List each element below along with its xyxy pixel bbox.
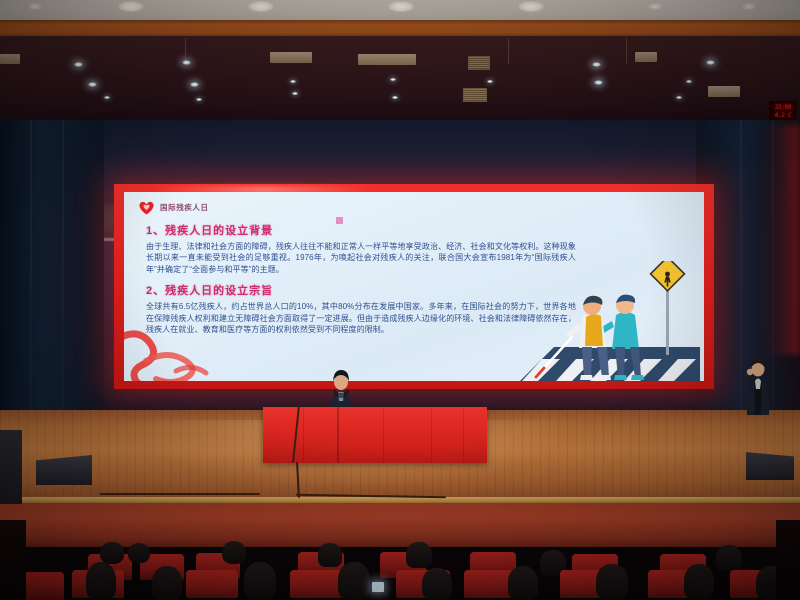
stage-spotlight <box>390 78 396 81</box>
audience-head <box>318 543 342 567</box>
curtain-fold <box>62 120 64 420</box>
audience-head <box>508 566 538 600</box>
stage-spotlight <box>487 80 493 83</box>
ceiling-light <box>388 1 414 12</box>
led-screen[interactable]: 国际残疾人日 1、残疾人日的设立背景 由于生理、法律和社会方面的障碍，残疾人往往… <box>114 184 714 389</box>
stage-spotlight <box>706 60 715 65</box>
ceiling-vent <box>463 88 487 102</box>
seat <box>290 570 344 598</box>
ceiling-truss <box>626 38 627 64</box>
section-1-paragraph: 由于生理、法律和社会方面的障碍，残疾人往往不能和正常人一样平等地享受政治、经济、… <box>146 241 576 275</box>
audience-head <box>716 545 742 571</box>
section-1-title: 1、残疾人日的设立背景 <box>146 222 576 238</box>
floor-cable <box>100 493 260 495</box>
ceiling-vent <box>468 56 490 70</box>
stage-spotlight <box>190 82 199 87</box>
audience-head <box>128 543 150 563</box>
sign-language-interpreter <box>743 337 773 415</box>
section-2-number: 2、 <box>146 285 165 297</box>
stage-spotlight <box>676 96 682 99</box>
stage-spotlight <box>74 62 83 67</box>
audience-head <box>596 564 628 600</box>
section-2-paragraph: 全球共有6.5亿残疾人，约占世界总人口的10%，其中80%分布在发展中国家。多年… <box>146 301 576 335</box>
blind-person-crossing-illustration <box>520 261 700 381</box>
stage-spotlight <box>196 98 202 101</box>
slide-header: 国际残疾人日 <box>138 200 209 215</box>
presentation-slide: 国际残疾人日 1、残疾人日的设立背景 由于生理、法律和社会方面的障碍，残疾人往往… <box>124 192 704 381</box>
aisle-shadow-left <box>0 520 26 600</box>
audience-head <box>422 568 452 600</box>
section-2-title: 2、残疾人日的设立宗旨 <box>146 282 576 298</box>
ceiling-light <box>648 3 662 10</box>
stage-spotlight <box>686 80 692 83</box>
stage-spotlight <box>290 80 296 83</box>
ceiling-light <box>28 3 42 10</box>
heart-hands-icon <box>138 200 155 215</box>
audience-head <box>100 542 124 564</box>
red-stage-glow <box>760 125 800 355</box>
stage-spotlight <box>594 80 603 85</box>
audience-head <box>244 562 276 600</box>
audience-head <box>338 562 370 600</box>
audience-area <box>0 540 800 600</box>
led-clock-temp: 4.2 C <box>775 112 792 120</box>
auditorium-scene: 23:09 4.2 C 国际残疾人日 <box>0 0 800 600</box>
ceiling-panel <box>0 54 20 64</box>
stage-spotlight <box>292 92 298 95</box>
ceiling-panel <box>635 52 657 62</box>
ceiling-light <box>518 1 544 12</box>
ceiling-panel <box>270 52 312 63</box>
presenter-figure <box>327 370 355 410</box>
seat <box>186 570 238 598</box>
stage-curtain-left <box>0 120 104 420</box>
section-1-heading: 残疾人日的设立背景 <box>165 225 273 237</box>
stage-spotlight <box>592 62 601 67</box>
stage-spotlight <box>104 96 110 99</box>
stage-spotlight <box>88 82 97 87</box>
ceiling-light <box>118 1 144 12</box>
aisle-shadow-right <box>776 520 800 600</box>
ceiling-panel <box>708 86 740 97</box>
side-equipment-rack <box>0 430 22 504</box>
stage-spotlight <box>182 60 191 65</box>
led-clock-time: 23:09 <box>775 104 792 112</box>
audience-head <box>86 562 116 600</box>
slide-body: 1、残疾人日的设立背景 由于生理、法律和社会方面的障碍，残疾人往往不能和正常人一… <box>146 222 576 342</box>
curtain-fold <box>740 120 742 420</box>
audience-head <box>684 564 714 600</box>
ceiling-light <box>248 1 274 12</box>
audience-phone-screen <box>372 582 384 592</box>
audience-head <box>152 566 182 600</box>
stage-monitor-speaker-right <box>746 452 794 480</box>
curtain-fold <box>30 120 32 420</box>
ceiling-truss <box>508 38 509 64</box>
ceiling-light <box>742 3 756 10</box>
slide-header-title: 国际残疾人日 <box>160 202 209 213</box>
section-1-number: 1、 <box>146 225 165 237</box>
audience-head <box>406 542 432 568</box>
section-2-heading: 残疾人日的设立宗旨 <box>165 285 273 297</box>
audience-head <box>222 541 246 564</box>
ceiling-panel <box>358 54 416 65</box>
stage-spotlight <box>392 96 398 99</box>
